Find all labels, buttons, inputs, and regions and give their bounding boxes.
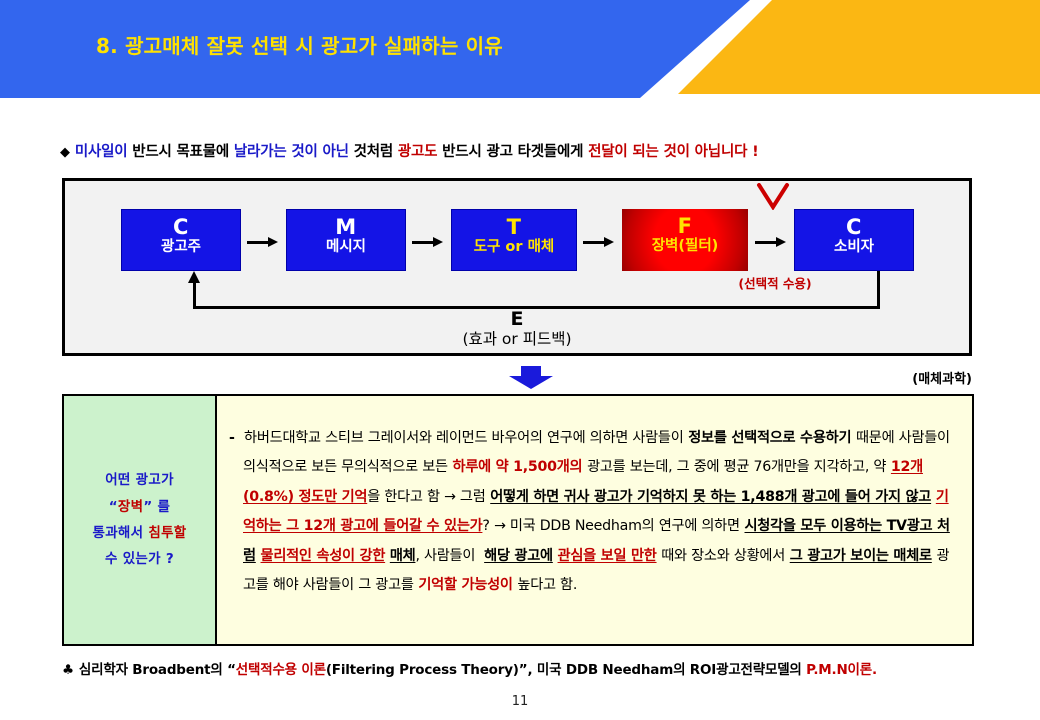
node-letter: M <box>287 216 405 239</box>
down-arrow-icon <box>508 366 554 390</box>
question-line-3a: 통과해서 <box>92 525 143 541</box>
lead-seg-7: 전달이 되는 것이 아닙니다 ! <box>588 144 758 160</box>
lead-seg-5: 광고도 <box>398 144 437 160</box>
footnote-line: ♣심리학자 Broadbent의 “선택적수용 이론(Filtering Pro… <box>62 658 877 678</box>
node-sublabel: 소비자 <box>795 240 913 256</box>
arrow-right-icon-2 <box>412 237 444 247</box>
explanation-box: 어떤 광고가 “장벽” 를 통과해서 침투할 수 있는가 ? - 하버드대학교 … <box>62 394 974 646</box>
question-keyword-penetrate: 침투할 <box>148 525 186 541</box>
body-seg-10: ? → 미국 DDB Needham의 연구에 의하면 <box>482 518 739 534</box>
arrow-right-icon-4 <box>755 237 787 247</box>
node-letter: C <box>122 216 240 239</box>
arrow-head <box>604 237 614 247</box>
lead-seg-2-text: 반드시 목표물에 <box>132 144 229 160</box>
footnote-seg-3: 선택적수용 이론 <box>236 662 326 678</box>
body-seg-18: 그 광고가 보이는 매체로 <box>790 548 932 564</box>
diamond-bullet-icon: ◆ <box>60 145 70 160</box>
body-dash: - <box>229 430 235 446</box>
body-seg-5: 광고를 보는데, 그 중에 평균 76개만을 지각하고, 약 <box>587 459 886 475</box>
body-seg-1: 하버드대학교 스티브 그레이서와 레이먼드 바우어의 연구에 의하면 사람들이 <box>244 430 684 446</box>
feedback-line-right <box>877 271 880 309</box>
feedback-label: E (효과 or 피드백) <box>65 309 969 348</box>
question-line-4: 수 있는가 ? <box>105 551 174 567</box>
node-sublabel: 장벽(필터) <box>622 239 748 255</box>
lead-seg-1: 미사일이 <box>75 144 128 160</box>
feedback-sublabel: (효과 or 피드백) <box>65 330 969 349</box>
feedback-arrow-head-icon <box>188 271 200 283</box>
arrow-shaft <box>755 241 777 244</box>
diagram-node-tool-media: T 도구 or 매체 <box>451 209 577 271</box>
diagram-node-advertiser: C 광고주 <box>121 209 241 271</box>
node-sublabel: 도구 or 매체 <box>452 240 576 256</box>
lead-seg-3: 날라가는 것이 아닌 <box>234 144 349 160</box>
feedback-letter: E <box>65 309 969 330</box>
node-letter: F <box>622 215 748 238</box>
body-seg-7: 을 한다고 함 → 그럼 <box>367 489 485 505</box>
lead-bullet-line: ◆미사일이 반드시 목표물에 날라가는 것이 아닌 것처럼 광고도 반드시 광고… <box>60 140 759 161</box>
node-sublabel: 광고주 <box>122 240 240 256</box>
footnote-seg-4: (Filtering Process Theory)”, 미국 DDB Need… <box>326 662 806 678</box>
arrow-shaft <box>412 241 434 244</box>
filter-note-label: (선택적 수용) <box>685 273 865 292</box>
footnote-seg-1: 심리학자 Broadbent <box>79 662 210 678</box>
body-seg-14: , 사람들이 <box>415 548 475 564</box>
body-seg-17: 때와 장소와 상황에서 <box>661 548 785 564</box>
node-letter: C <box>795 216 913 239</box>
body-seg-21: 높다고 함. <box>517 577 577 593</box>
arrow-head <box>433 237 443 247</box>
question-keyword-barrier: 장벽 <box>118 499 143 515</box>
communication-flow-diagram: C 광고주 M 메시지 T 도구 or 매체 F 장벽(필터) (선택적 수용)… <box>62 178 972 356</box>
lead-seg-6: 반드시 광고 타겟들에게 <box>442 144 583 160</box>
question-text: 어떤 광고가 “장벽” 를 통과해서 침투할 수 있는가 ? <box>92 467 186 572</box>
arrow-shaft <box>247 241 269 244</box>
body-seg-2: 정보를 선택적으로 수용하기 <box>688 430 851 446</box>
body-seg-16: 관심을 보일 만한 <box>558 548 657 564</box>
arrow-right-icon-3 <box>583 237 615 247</box>
club-bullet-icon: ♣ <box>62 662 74 678</box>
body-seg-4: 하루에 약 1,500개의 <box>453 459 583 475</box>
page-number: 11 <box>0 694 1040 709</box>
arrow-head <box>268 237 278 247</box>
diagram-node-message: M 메시지 <box>286 209 406 271</box>
feedback-line-left <box>193 281 196 309</box>
v-chevron-icon <box>756 183 790 210</box>
media-science-caption: (매체과학) <box>912 368 972 387</box>
body-seg-20: 기억할 가능성이 <box>418 577 512 593</box>
diagram-node-filter: F 장벽(필터) <box>622 209 748 271</box>
body-seg-13: 매체 <box>390 548 416 564</box>
diagram-node-consumer: C 소비자 <box>794 209 914 271</box>
research-panel: - 하버드대학교 스티브 그레이서와 레이먼드 바우어의 연구에 의하면 사람들… <box>217 396 972 644</box>
arrow-head <box>776 237 786 247</box>
node-sublabel: 메시지 <box>287 240 405 256</box>
footnote-seg-5: P.M.N이론. <box>806 662 877 678</box>
body-seg-15: 해당 광고에 <box>484 548 553 564</box>
page-title: 8. 광고매체 잘못 선택 시 광고가 실패하는 이유 <box>96 30 503 59</box>
question-panel: 어떤 광고가 “장벽” 를 통과해서 침투할 수 있는가 ? <box>64 396 217 644</box>
question-line-1: 어떤 광고가 <box>105 472 174 488</box>
arrow-shaft <box>583 241 605 244</box>
arrow-right-icon-1 <box>247 237 279 247</box>
question-quote-close: ” 를 <box>143 499 170 515</box>
footnote-seg-2: 의 “ <box>210 662 235 678</box>
question-quote-open: “ <box>109 499 118 515</box>
node-letter: T <box>452 216 576 239</box>
body-seg-12: 물리적인 속성이 강한 <box>261 548 386 564</box>
body-seg-8: 어떻게 하면 귀사 광고가 기억하지 못 하는 1,488개 광고에 들어 가지… <box>490 489 931 505</box>
lead-seg-4: 것처럼 <box>354 144 393 160</box>
research-paragraph: - 하버드대학교 스티브 그레이서와 레이먼드 바우어의 연구에 의하면 사람들… <box>229 424 954 600</box>
